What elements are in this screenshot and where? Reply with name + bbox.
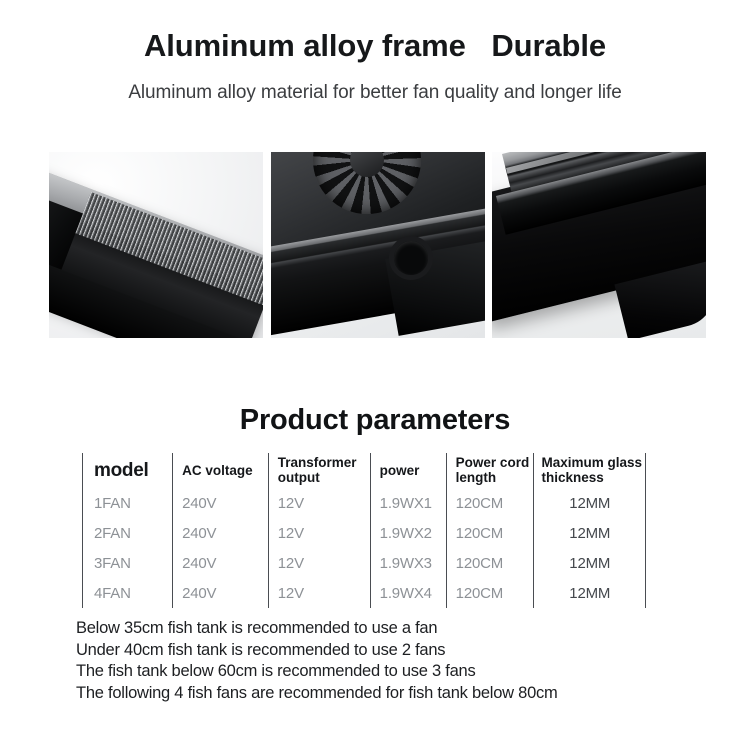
cell-power: 1.9WX2 <box>370 518 446 548</box>
cell-ac-voltage: 240V <box>173 488 269 518</box>
note-line: Below 35cm fish tank is recommended to u… <box>76 618 716 640</box>
product-parameters-table: model AC voltage Transformer output powe… <box>82 453 646 608</box>
column-header-power: power <box>370 453 446 488</box>
note-line: The following 4 fish fans are recommende… <box>76 683 716 705</box>
cell-transformer-output: 12V <box>268 578 370 608</box>
column-header-maximum-glass-thickness: Maximum glass thickness <box>534 453 646 488</box>
section-title-product-parameters: Product parameters <box>0 404 750 437</box>
cell-power: 1.9WX3 <box>370 548 446 578</box>
note-line: The fish tank below 60cm is recommended … <box>76 661 716 683</box>
cell-power: 1.9WX1 <box>370 488 446 518</box>
cell-cord-length: 120CM <box>446 518 534 548</box>
cell-transformer-output: 12V <box>268 488 370 518</box>
cell-glass-thickness: 12MM <box>534 518 646 548</box>
column-header-power-cord-length: Power cord length <box>446 453 534 488</box>
note-line: Under 40cm fish tank is recommended to u… <box>76 640 716 662</box>
cell-model: 2FAN <box>83 518 173 548</box>
page-title: Aluminum alloy frame Durable <box>0 28 750 64</box>
column-header-transformer-output: Transformer output <box>268 453 370 488</box>
cell-ac-voltage: 240V <box>173 578 269 608</box>
product-photo-1 <box>49 152 263 338</box>
cell-ac-voltage: 240V <box>173 518 269 548</box>
table-row: 4FAN 240V 12V 1.9WX4 120CM 12MM <box>83 578 646 608</box>
cell-cord-length: 120CM <box>446 548 534 578</box>
recommendation-notes: Below 35cm fish tank is recommended to u… <box>76 618 716 704</box>
table-row: 1FAN 240V 12V 1.9WX1 120CM 12MM <box>83 488 646 518</box>
product-detail-page: Aluminum alloy frame Durable Aluminum al… <box>0 0 750 750</box>
cell-power: 1.9WX4 <box>370 578 446 608</box>
cell-transformer-output: 12V <box>268 548 370 578</box>
page-subtitle: Aluminum alloy material for better fan q… <box>0 82 750 104</box>
table-header-row: model AC voltage Transformer output powe… <box>83 453 646 488</box>
cell-glass-thickness: 12MM <box>534 578 646 608</box>
product-photo-2 <box>271 152 485 338</box>
cell-ac-voltage: 240V <box>173 548 269 578</box>
column-header-ac-voltage: AC voltage <box>173 453 269 488</box>
column-header-model: model <box>83 453 173 488</box>
cell-model: 3FAN <box>83 548 173 578</box>
table-row: 2FAN 240V 12V 1.9WX2 120CM 12MM <box>83 518 646 548</box>
cell-glass-thickness: 12MM <box>534 548 646 578</box>
cell-cord-length: 120CM <box>446 578 534 608</box>
table-row: 3FAN 240V 12V 1.9WX3 120CM 12MM <box>83 548 646 578</box>
cell-transformer-output: 12V <box>268 518 370 548</box>
product-photo-3 <box>492 152 706 338</box>
cell-model: 1FAN <box>83 488 173 518</box>
cell-model: 4FAN <box>83 578 173 608</box>
product-photo-gallery <box>49 152 706 338</box>
cell-glass-thickness: 12MM <box>534 488 646 518</box>
cell-cord-length: 120CM <box>446 488 534 518</box>
